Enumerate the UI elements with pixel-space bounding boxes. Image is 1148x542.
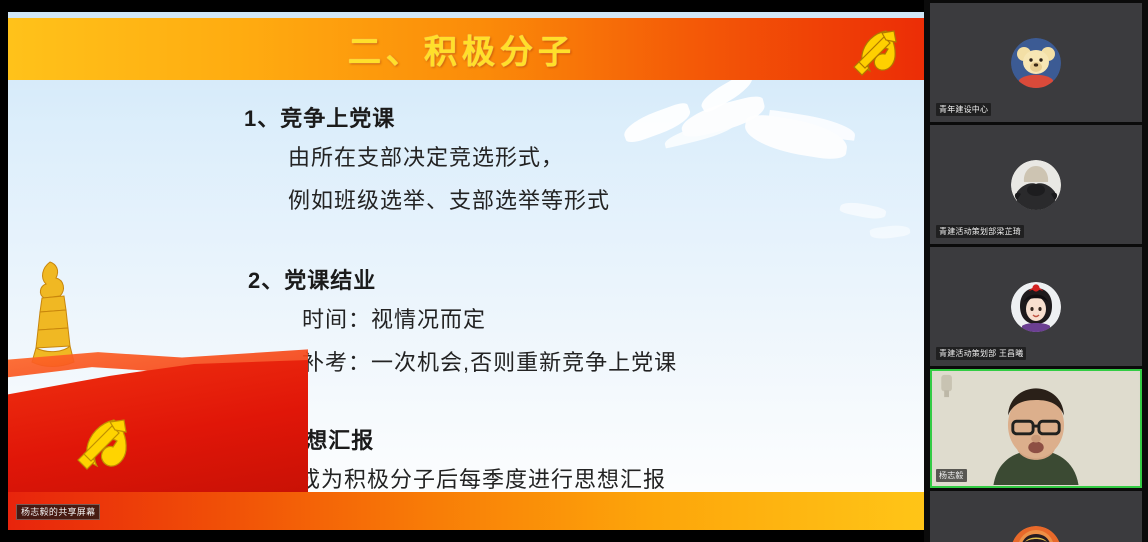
participant-tile[interactable] (930, 491, 1142, 542)
section-line: 由所在支部决定竞选形式， (8, 136, 924, 179)
avatar (1011, 282, 1061, 332)
participant-name: 青建活动策划部 王昌曦 (936, 347, 1026, 360)
section-heading: 1、竞争上党课 (8, 102, 924, 136)
presentation-slide: 二、积极分子 1、竞争上党课 由所在支部决定竞选形式， 例如班级选举、支部选举等… (8, 12, 924, 530)
cat-avatar-icon (1011, 160, 1061, 210)
avatar (1011, 526, 1061, 542)
slide-section-1: 1、竞争上党课 由所在支部决定竞选形式， 例如班级选举、支部选举等形式 (8, 102, 924, 222)
participant-filmstrip[interactable]: 青年建设中心 青建活动策划部梁芷琦 (924, 0, 1148, 542)
section-line: 例如班级选举、支部选举等形式 (8, 179, 924, 222)
anime-girl-avatar-icon (1011, 526, 1061, 542)
participant-name: 青建活动策划部梁芷琦 (936, 225, 1024, 238)
hammer-and-sickle-icon (828, 21, 914, 83)
slide-title: 二、积极分子 (8, 18, 924, 80)
section-heading: 2、党课结业 (8, 264, 924, 298)
hammer-and-sickle-icon (64, 412, 138, 482)
participant-tile-active-speaker[interactable]: 杨志毅 (930, 369, 1142, 488)
slide-title-banner: 二、积极分子 (8, 18, 924, 80)
slide-bottom-bar (8, 492, 924, 530)
participant-name: 杨志毅 (936, 469, 967, 482)
screen-share-label: 杨志毅的共享屏幕 (16, 504, 100, 520)
avatar (1011, 38, 1061, 88)
section-line: 时间：视情况而定 (8, 298, 924, 341)
bear-avatar-icon (1011, 38, 1061, 88)
shared-screen-region[interactable]: 二、积极分子 1、竞争上党课 由所在支部决定竞选形式， 例如班级选举、支部选举等… (0, 0, 924, 542)
participant-tile[interactable]: 青建活动策划部梁芷琦 (930, 125, 1142, 244)
participant-tile[interactable]: 青建活动策划部 王昌曦 (930, 247, 1142, 366)
participant-name: 青年建设中心 (936, 103, 991, 116)
zoom-meeting-window: 二、积极分子 1、竞争上党课 由所在支部决定竞选形式， 例如班级选举、支部选举等… (0, 0, 1148, 542)
avatar (1011, 160, 1061, 210)
participant-tile[interactable]: 青年建设中心 (930, 3, 1142, 122)
snow-white-avatar-icon (1011, 282, 1061, 332)
